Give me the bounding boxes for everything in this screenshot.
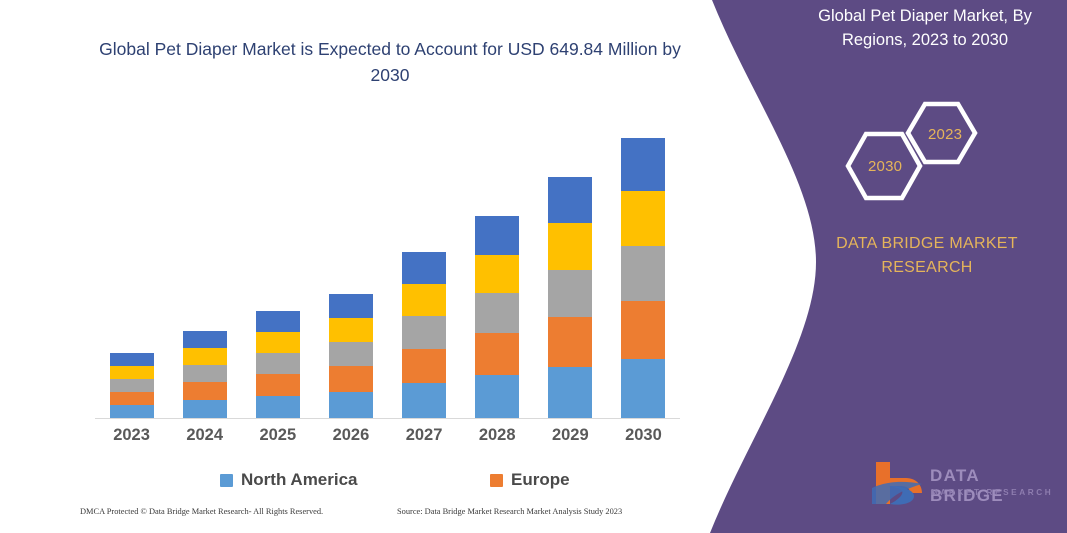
legend-item-north-america[interactable]: North America: [220, 470, 358, 490]
bar-segment-2030-s4: [621, 191, 665, 246]
b-monogram-icon: [868, 458, 928, 508]
legend-swatch-icon: [490, 474, 503, 487]
bar-segment-2027-s4: [402, 284, 446, 317]
bar-segment-2029-s1: [548, 367, 592, 419]
hexagon-label-2023: 2023: [928, 126, 962, 143]
bar-segment-2030-s3: [621, 246, 665, 302]
bar-segment-2024-s3: [183, 365, 227, 382]
legend-label: Europe: [511, 470, 570, 490]
bar-2029[interactable]: [548, 177, 592, 419]
bar-segment-2025-s5: [256, 311, 300, 332]
x-label-2029: 2029: [535, 426, 605, 445]
x-label-2027: 2027: [389, 426, 459, 445]
bar-segment-2030-s1: [621, 359, 665, 419]
bar-segment-2029-s5: [548, 177, 592, 223]
footer-source: Source: Data Bridge Market Research Mark…: [397, 507, 622, 516]
logo-title: DATA BRIDGE: [930, 466, 1058, 506]
bar-segment-2026-s2: [329, 366, 373, 392]
bar-segment-2027-s3: [402, 316, 446, 349]
bar-segment-2028-s1: [475, 375, 519, 419]
legend-label: North America: [241, 470, 358, 490]
bar-segment-2027-s5: [402, 252, 446, 284]
legend-item-europe[interactable]: Europe: [490, 470, 570, 490]
hexagon-group: 2030 2023: [820, 100, 1020, 210]
bar-2024[interactable]: [183, 331, 227, 419]
x-label-2024: 2024: [170, 426, 240, 445]
x-label-2025: 2025: [243, 426, 313, 445]
panel-title: Global Pet Diaper Market, By Regions, 20…: [800, 5, 1050, 53]
x-label-2026: 2026: [316, 426, 386, 445]
bar-segment-2025-s1: [256, 396, 300, 419]
brand-logo: DATA BRIDGE MARKET RESEARCH: [868, 458, 1058, 516]
bar-segment-2023-s4: [110, 366, 154, 379]
bar-segment-2028-s5: [475, 216, 519, 255]
brand-name: DATA BRIDGE MARKET RESEARCH: [812, 232, 1042, 280]
bar-segment-2027-s2: [402, 349, 446, 383]
bar-2030[interactable]: [621, 138, 665, 419]
bar-segment-2028-s3: [475, 293, 519, 333]
bar-2028[interactable]: [475, 216, 519, 419]
bar-segment-2029-s3: [548, 270, 592, 318]
x-label-2030: 2030: [608, 426, 678, 445]
bar-segment-2028-s2: [475, 333, 519, 375]
bar-2025[interactable]: [256, 311, 300, 419]
footer: DMCA Protected © Data Bridge Market Rese…: [80, 507, 690, 525]
bar-segment-2026-s3: [329, 342, 373, 366]
bar-segment-2027-s1: [402, 383, 446, 419]
bar-segment-2024-s5: [183, 331, 227, 348]
bar-segment-2029-s4: [548, 223, 592, 270]
stacked-bar-chart: [95, 120, 680, 419]
x-axis-labels: 20232024202520262027202820292030: [95, 426, 680, 450]
logo-subtitle: MARKET RESEARCH: [931, 488, 1053, 497]
bar-segment-2026-s1: [329, 392, 373, 419]
footer-copyright: DMCA Protected © Data Bridge Market Rese…: [80, 507, 323, 516]
bar-segment-2026-s5: [329, 294, 373, 318]
bar-segment-2025-s2: [256, 374, 300, 396]
bar-segment-2028-s4: [475, 255, 519, 294]
bar-segment-2023-s5: [110, 353, 154, 366]
bar-segment-2023-s2: [110, 392, 154, 405]
x-label-2028: 2028: [462, 426, 532, 445]
x-axis-line: [95, 418, 680, 419]
bar-2023[interactable]: [110, 353, 154, 419]
bar-2027[interactable]: [402, 252, 446, 419]
chart-title: Global Pet Diaper Market is Expected to …: [90, 36, 690, 89]
bar-2026[interactable]: [329, 294, 373, 419]
chart-legend: North AmericaEurope: [95, 470, 680, 496]
hexagon-outlines-icon: [820, 100, 1020, 210]
bar-segment-2026-s4: [329, 318, 373, 342]
legend-swatch-icon: [220, 474, 233, 487]
bar-segment-2023-s1: [110, 405, 154, 419]
bar-segment-2030-s2: [621, 301, 665, 359]
bar-segment-2024-s1: [183, 400, 227, 419]
bar-segment-2029-s2: [548, 317, 592, 367]
bar-segment-2025-s4: [256, 332, 300, 353]
bar-segment-2025-s3: [256, 353, 300, 374]
hexagon-label-2030: 2030: [868, 158, 902, 175]
bar-segment-2024-s2: [183, 382, 227, 400]
bar-segment-2024-s4: [183, 348, 227, 365]
bar-segment-2030-s5: [621, 138, 665, 191]
bar-segment-2023-s3: [110, 379, 154, 392]
x-label-2023: 2023: [97, 426, 167, 445]
infographic-root: Global Pet Diaper Market, By Regions, 20…: [0, 0, 1067, 533]
